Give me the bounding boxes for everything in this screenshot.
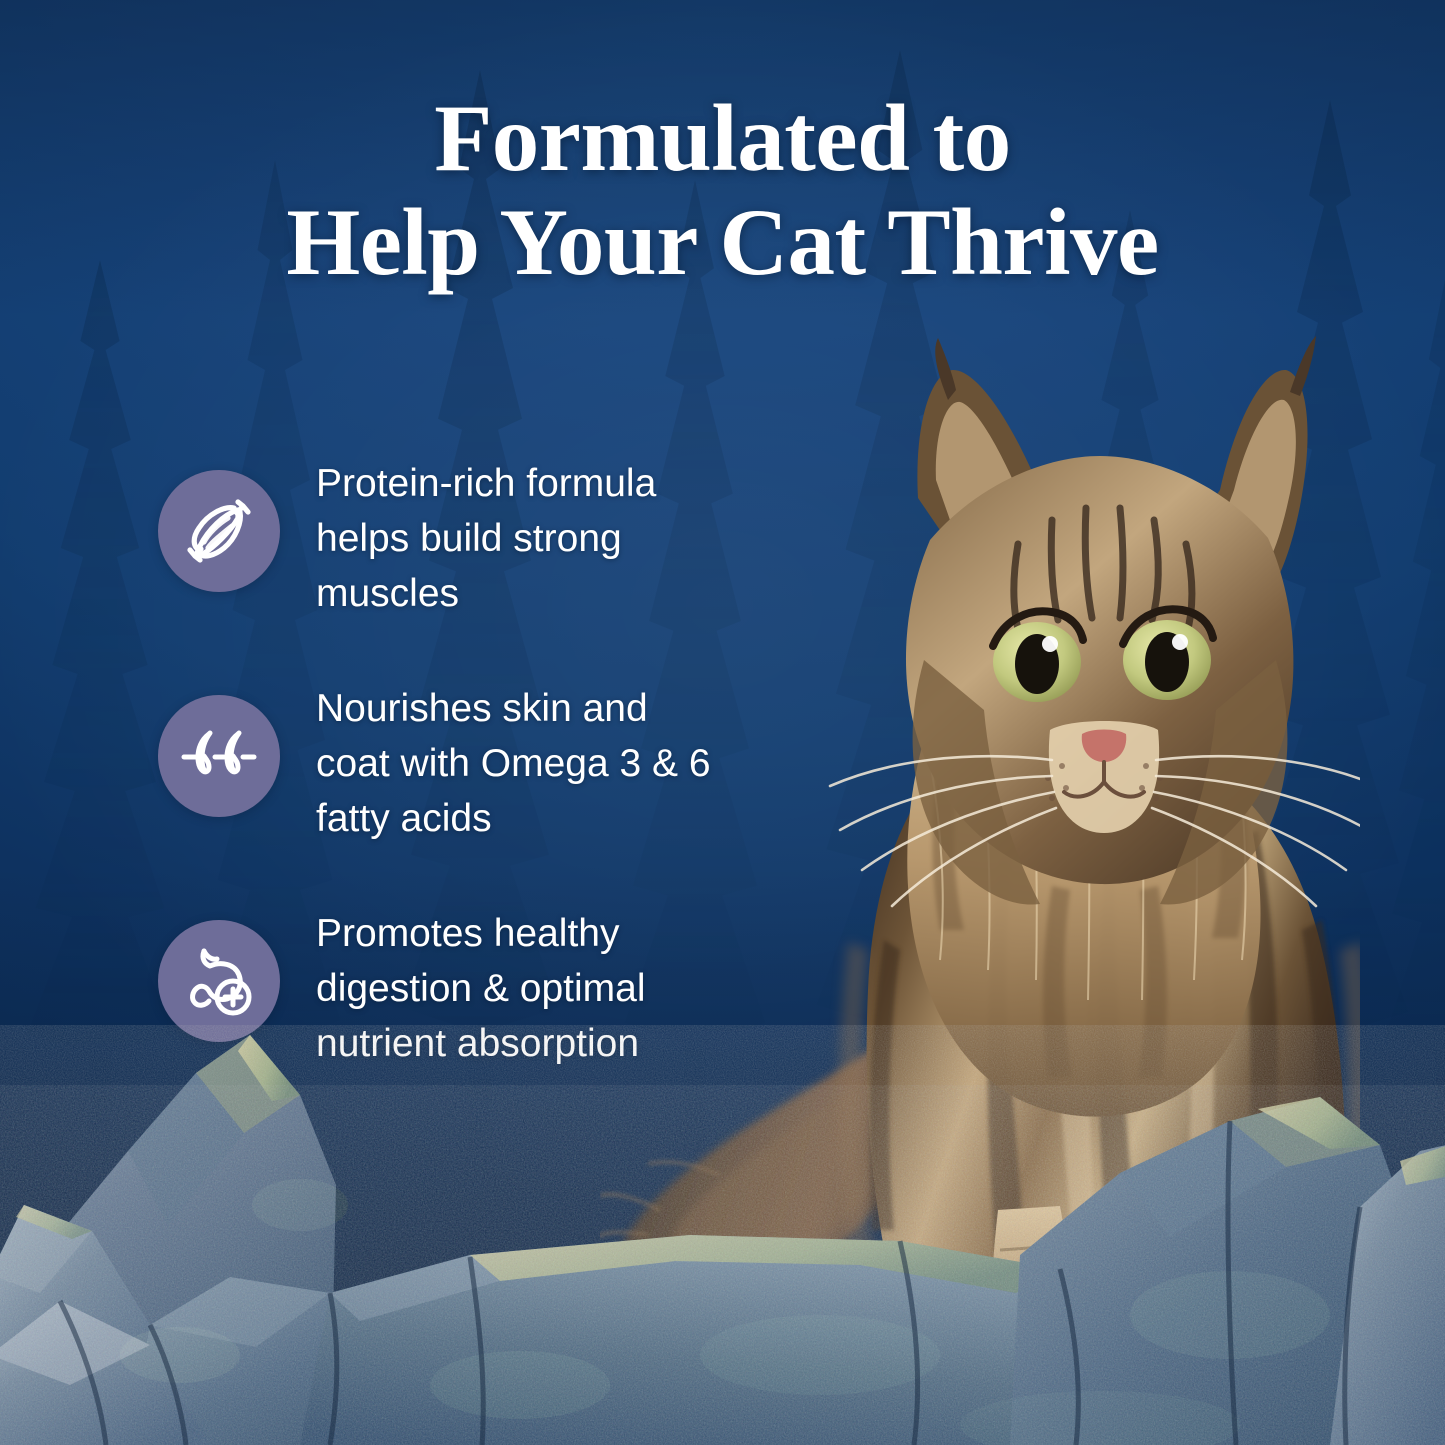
muscle-icon-badge (158, 470, 280, 592)
cat-head (906, 336, 1316, 905)
benefit-item-protein: Protein-rich formula helps build strong … (158, 452, 758, 621)
headline: Formulated to Help Your Cat Thrive (0, 86, 1445, 294)
benefit-list: Protein-rich formula helps build strong … (158, 452, 758, 1071)
headline-line-1: Formulated to (0, 86, 1445, 190)
headline-line-2: Help Your Cat Thrive (0, 190, 1445, 294)
muscle-icon (180, 492, 258, 570)
stomach-plus-icon (179, 941, 259, 1021)
benefit-text-protein: Protein-rich formula helps build strong … (316, 452, 716, 621)
hair-follicle-icon (179, 716, 259, 796)
hair-follicle-icon-badge (158, 695, 280, 817)
rock-foreground (0, 1025, 1445, 1445)
benefit-text-skin-coat: Nourishes skin and coat with Omega 3 & 6… (316, 677, 716, 846)
stomach-plus-icon-badge (158, 920, 280, 1042)
benefit-item-skin-coat: Nourishes skin and coat with Omega 3 & 6… (158, 677, 758, 846)
marketing-image: Formulated to Help Your Cat Thrive (0, 0, 1445, 1445)
